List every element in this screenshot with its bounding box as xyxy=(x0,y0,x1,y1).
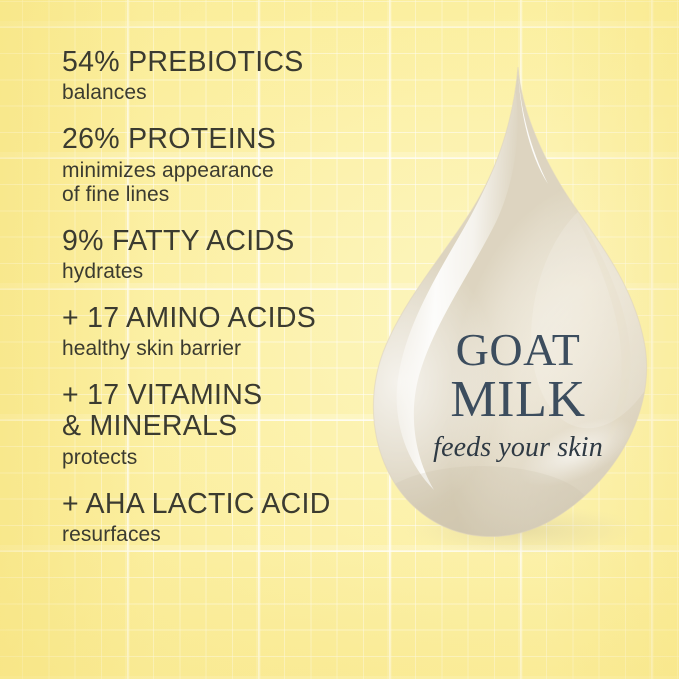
benefit-subtext: healthy skin barrier xyxy=(62,337,382,361)
milk-droplet-icon xyxy=(372,60,664,556)
benefit-item-fatty-acids: 9% FATTY ACIDS hydrates xyxy=(62,226,382,284)
benefit-item-amino-acids: + 17 AMINO ACIDS healthy skin barrier xyxy=(62,303,382,361)
benefit-item-aha-lactic-acid: + AHA LACTIC ACID resurfaces xyxy=(62,489,382,547)
benefit-headline: + 17 VITAMINS & MINERALS xyxy=(62,380,382,443)
benefit-headline: 54% PREBIOTICS xyxy=(62,47,382,78)
infographic-canvas: 54% PREBIOTICS balances 26% PROTEINS min… xyxy=(0,0,679,679)
benefit-subtext: resurfaces xyxy=(62,523,382,547)
benefit-subtext: protects xyxy=(62,446,382,470)
benefit-item-prebiotics: 54% PREBIOTICS balances xyxy=(62,47,382,105)
benefit-headline: + AHA LACTIC ACID xyxy=(62,489,382,520)
benefit-subtext: minimizes appearance of fine lines xyxy=(62,159,382,207)
benefit-item-vitamins-minerals: + 17 VITAMINS & MINERALS protects xyxy=(62,380,382,470)
benefit-headline: + 17 AMINO ACIDS xyxy=(62,303,382,334)
benefits-list: 54% PREBIOTICS balances 26% PROTEINS min… xyxy=(62,47,382,547)
benefit-subtext: balances xyxy=(62,81,382,105)
benefit-subtext: hydrates xyxy=(62,260,382,284)
benefit-headline: 9% FATTY ACIDS xyxy=(62,226,382,257)
milk-droplet: GOAT MILK feeds your skin xyxy=(372,60,664,556)
benefit-item-proteins: 26% PROTEINS minimizes appearance of fin… xyxy=(62,124,382,206)
benefit-headline: 26% PROTEINS xyxy=(62,124,382,155)
